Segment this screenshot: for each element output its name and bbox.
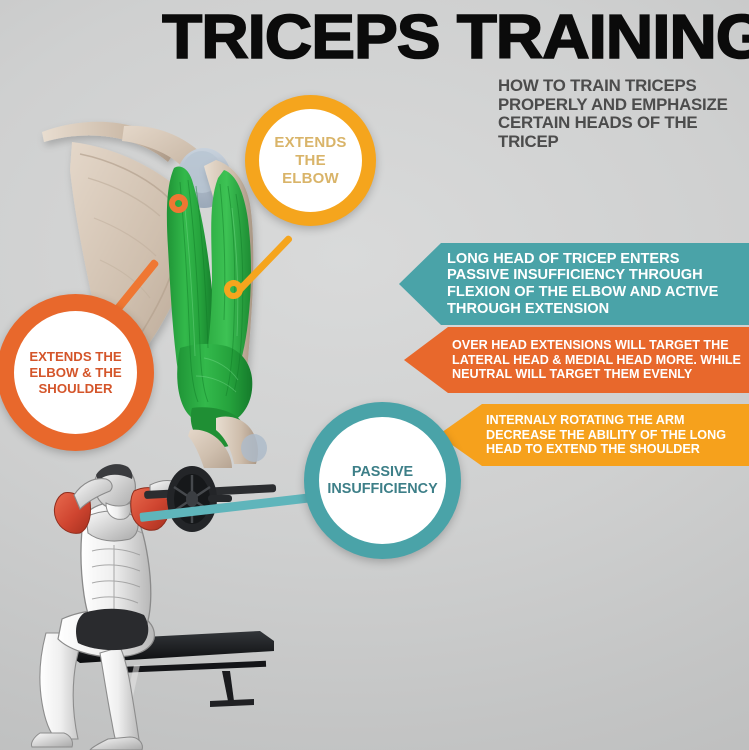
callout-internal-rotation-text: INTERNALY ROTATING THE ARM DECREASE THE … bbox=[486, 413, 741, 457]
label-circle-extends-elbow-shoulder-text: EXTENDS THE ELBOW & THE SHOULDER bbox=[14, 349, 137, 397]
callout-internal-rotation[interactable]: INTERNALY ROTATING THE ARM DECREASE THE … bbox=[438, 404, 749, 466]
page-subtitle: HOW TO TRAIN TRICEPS PROPERLY AND EMPHAS… bbox=[498, 77, 749, 151]
infographic-poster: TRICEPS TRAINING HOW TO TRAIN TRICEPS PR… bbox=[0, 0, 749, 750]
label-circle-passive-insufficiency[interactable]: PASSIVE INSUFFICIENCY bbox=[304, 402, 461, 559]
callout-long-head[interactable]: LONG HEAD OF TRICEP ENTERS PASSIVE INSUF… bbox=[399, 243, 749, 325]
marker-dot-triceps-belly bbox=[224, 280, 243, 299]
callout-overhead-extensions[interactable]: OVER HEAD EXTENSIONS WILL TARGET THE LAT… bbox=[404, 327, 749, 393]
label-circle-extends-elbow[interactable]: EXTENDS THE ELBOW bbox=[245, 95, 376, 226]
label-circle-passive-insufficiency-text: PASSIVE INSUFFICIENCY bbox=[319, 464, 446, 498]
marker-dot-long-head-origin bbox=[169, 194, 188, 213]
label-circle-extends-elbow-shoulder[interactable]: EXTENDS THE ELBOW & THE SHOULDER bbox=[0, 294, 154, 451]
callout-long-head-text: LONG HEAD OF TRICEP ENTERS PASSIVE INSUF… bbox=[447, 251, 741, 317]
label-circle-extends-elbow-text: EXTENDS THE ELBOW bbox=[259, 134, 362, 188]
page-title: TRICEPS TRAINING bbox=[146, 7, 749, 69]
callout-overhead-extensions-text: OVER HEAD EXTENSIONS WILL TARGET THE LAT… bbox=[452, 338, 741, 382]
